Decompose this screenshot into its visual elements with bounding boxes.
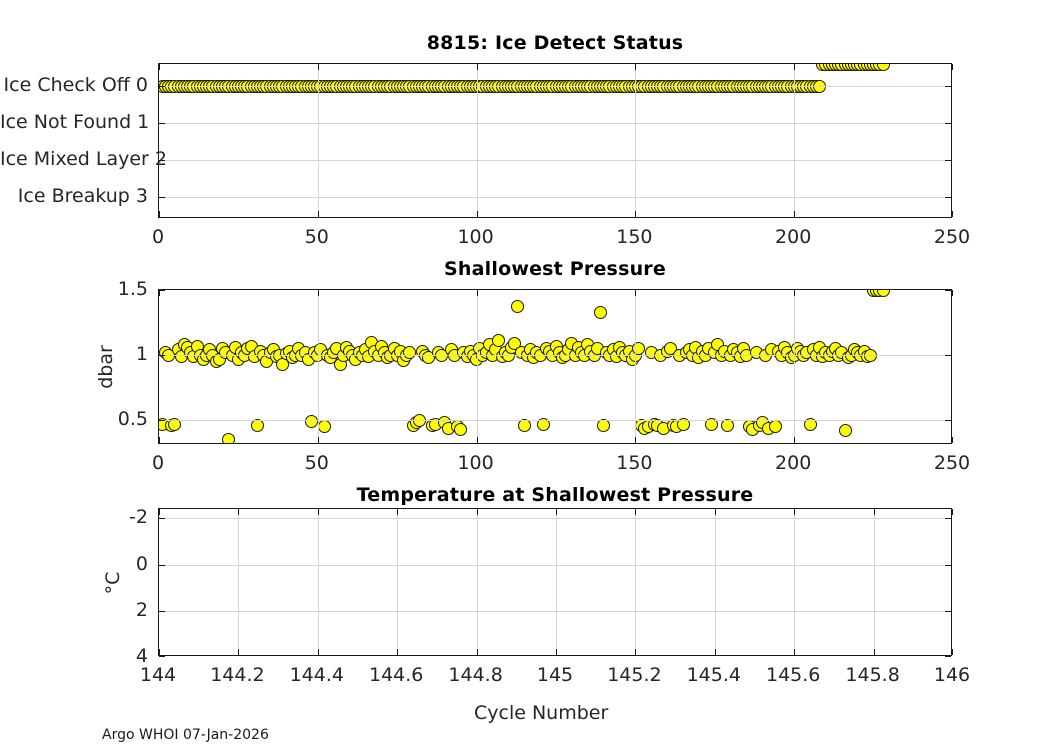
x-axis-tick-label: 144.2 [210, 664, 264, 686]
gridline-vertical [318, 509, 319, 655]
x-axis-tick [556, 649, 557, 655]
gridline-horizontal [159, 420, 951, 421]
y-axis-tick [159, 611, 165, 612]
gridline-vertical [635, 509, 636, 655]
x-axis-tick [635, 649, 636, 655]
x-axis-tick-label: 200 [775, 452, 811, 474]
y-axis-tick-label: 4 [0, 645, 148, 667]
y-axis-tick [159, 420, 165, 421]
y-axis-tick [159, 290, 165, 291]
gridline-horizontal [159, 565, 951, 566]
gridline-vertical [874, 509, 875, 655]
data-point-marker [877, 290, 890, 297]
x-axis-tick [318, 437, 319, 443]
y-axis-tick [159, 355, 165, 356]
x-axis-tick-label: 0 [152, 226, 164, 248]
x-axis-tick-label: 145.2 [607, 664, 661, 686]
x-axis-tick-label: 250 [934, 452, 970, 474]
x-axis-tick [477, 437, 478, 443]
x-axis-tick-label: 100 [457, 226, 493, 248]
x-axis-tick [159, 437, 160, 443]
x-axis-tick [794, 649, 795, 655]
y-axis-tick-right [945, 565, 951, 566]
x-axis-tick [715, 649, 716, 655]
y-axis-tick-right [945, 420, 951, 421]
panel-3-title: Temperature at Shallowest Pressure [357, 484, 754, 506]
y-axis-tick [159, 518, 165, 519]
x-axis-tick-top [715, 509, 716, 515]
x-axis-tick [477, 649, 478, 655]
gridline-vertical [794, 509, 795, 655]
x-axis-tick-label: 250 [934, 226, 970, 248]
x-axis-tick-top [556, 509, 557, 515]
x-axis-tick-label: 145.4 [687, 664, 741, 686]
x-axis-tick-top [952, 290, 953, 296]
y-axis-tick-label: 0.5 [0, 408, 148, 430]
data-point-marker [594, 306, 607, 319]
gridline-horizontal [159, 611, 951, 612]
y-axis-tick-label: 2 [0, 599, 148, 621]
y-axis-tick-right [945, 290, 951, 291]
x-axis-tick-top [635, 290, 636, 296]
y-axis-tick-label: Ice Not Found 1 [0, 111, 148, 133]
x-axis-tick-top [874, 509, 875, 515]
x-axis-tick-top [318, 509, 319, 515]
x-axis-tick-label: 145.6 [766, 664, 820, 686]
x-axis-tick [238, 649, 239, 655]
data-point-marker [511, 300, 524, 313]
x-axis-tick-label: 144 [140, 664, 176, 686]
x-axis-tick [952, 437, 953, 443]
panel-3-data-layer [159, 509, 951, 655]
x-axis-tick-label: 144.6 [369, 664, 423, 686]
x-axis-tick-top [635, 509, 636, 515]
y-axis-tick-label: 1 [0, 343, 148, 365]
data-point-marker [403, 346, 416, 359]
gridline-vertical [397, 509, 398, 655]
x-axis-tick-label: 0 [152, 452, 164, 474]
x-axis-tick-top [477, 509, 478, 515]
y-axis-tick-label: Ice Breakup 3 [0, 185, 148, 207]
data-point-marker [454, 423, 467, 436]
x-axis-tick-label: 144.8 [448, 664, 502, 686]
data-point-marker [769, 420, 782, 433]
x-axis-tick [794, 437, 795, 443]
x-axis-tick-label: 150 [616, 226, 652, 248]
y-axis-tick-label: 0 [0, 553, 148, 575]
panel-3-plot-area [158, 508, 952, 656]
x-axis-tick-label: 150 [616, 452, 652, 474]
x-axis-tick-top [794, 290, 795, 296]
x-axis-tick-top [952, 509, 953, 515]
y-axis-tick [159, 565, 165, 566]
x-axis-tick-label: 145 [537, 664, 573, 686]
y-axis-tick-right [945, 611, 951, 612]
x-axis-tick-label: 100 [457, 452, 493, 474]
figure-footer-credit: Argo WHOI 07-Jan-2026 [102, 727, 269, 743]
x-axis-tick-top [159, 509, 160, 515]
y-axis-tick-label: 1.5 [0, 278, 148, 300]
x-axis-tick [635, 437, 636, 443]
gridline-vertical [477, 509, 478, 655]
x-axis-tick-top [318, 290, 319, 296]
x-axis-tick-label: 145.8 [845, 664, 899, 686]
x-axis-tick-label: 50 [305, 452, 329, 474]
x-axis-tick [397, 649, 398, 655]
y-axis-tick-right [945, 355, 951, 356]
data-point-marker [632, 342, 645, 355]
y-axis-tick-label: Ice Mixed Layer 2 [0, 148, 148, 170]
y-axis-tick-right [945, 656, 951, 657]
y-axis-tick-right [945, 518, 951, 519]
gridline-vertical [715, 509, 716, 655]
y-axis-tick [159, 656, 165, 657]
argo-float-figure: 8815: Ice Detect Status Shallowest Press… [0, 0, 1050, 750]
x-axis-tick [159, 649, 160, 655]
data-point-marker [222, 433, 235, 443]
data-point-marker [839, 424, 852, 437]
panel-3-y-axis-label: °C [102, 572, 124, 595]
gridline-horizontal [159, 518, 951, 519]
x-axis-tick-top [794, 509, 795, 515]
x-axis-tick [874, 649, 875, 655]
data-point-marker [318, 420, 331, 433]
x-axis-tick-label: 146 [934, 664, 970, 686]
x-axis-tick [952, 649, 953, 655]
x-axis-tick-label: 50 [305, 226, 329, 248]
panel-3-x-axis-label: Cycle Number [474, 702, 608, 724]
x-axis-tick-label: 200 [775, 226, 811, 248]
y-axis-tick-label: -2 [0, 506, 148, 528]
x-axis-tick-top [397, 509, 398, 515]
gridline-horizontal [159, 355, 951, 356]
panel-2-plot-area [158, 289, 952, 444]
x-axis-tick-label: 144.4 [290, 664, 344, 686]
data-point-marker [305, 415, 318, 428]
y-axis-tick-label: Ice Check Off 0 [0, 74, 148, 96]
x-axis-tick [318, 649, 319, 655]
gridline-vertical [238, 509, 239, 655]
x-axis-tick-top [238, 509, 239, 515]
gridline-vertical [556, 509, 557, 655]
x-axis-tick-top [477, 290, 478, 296]
